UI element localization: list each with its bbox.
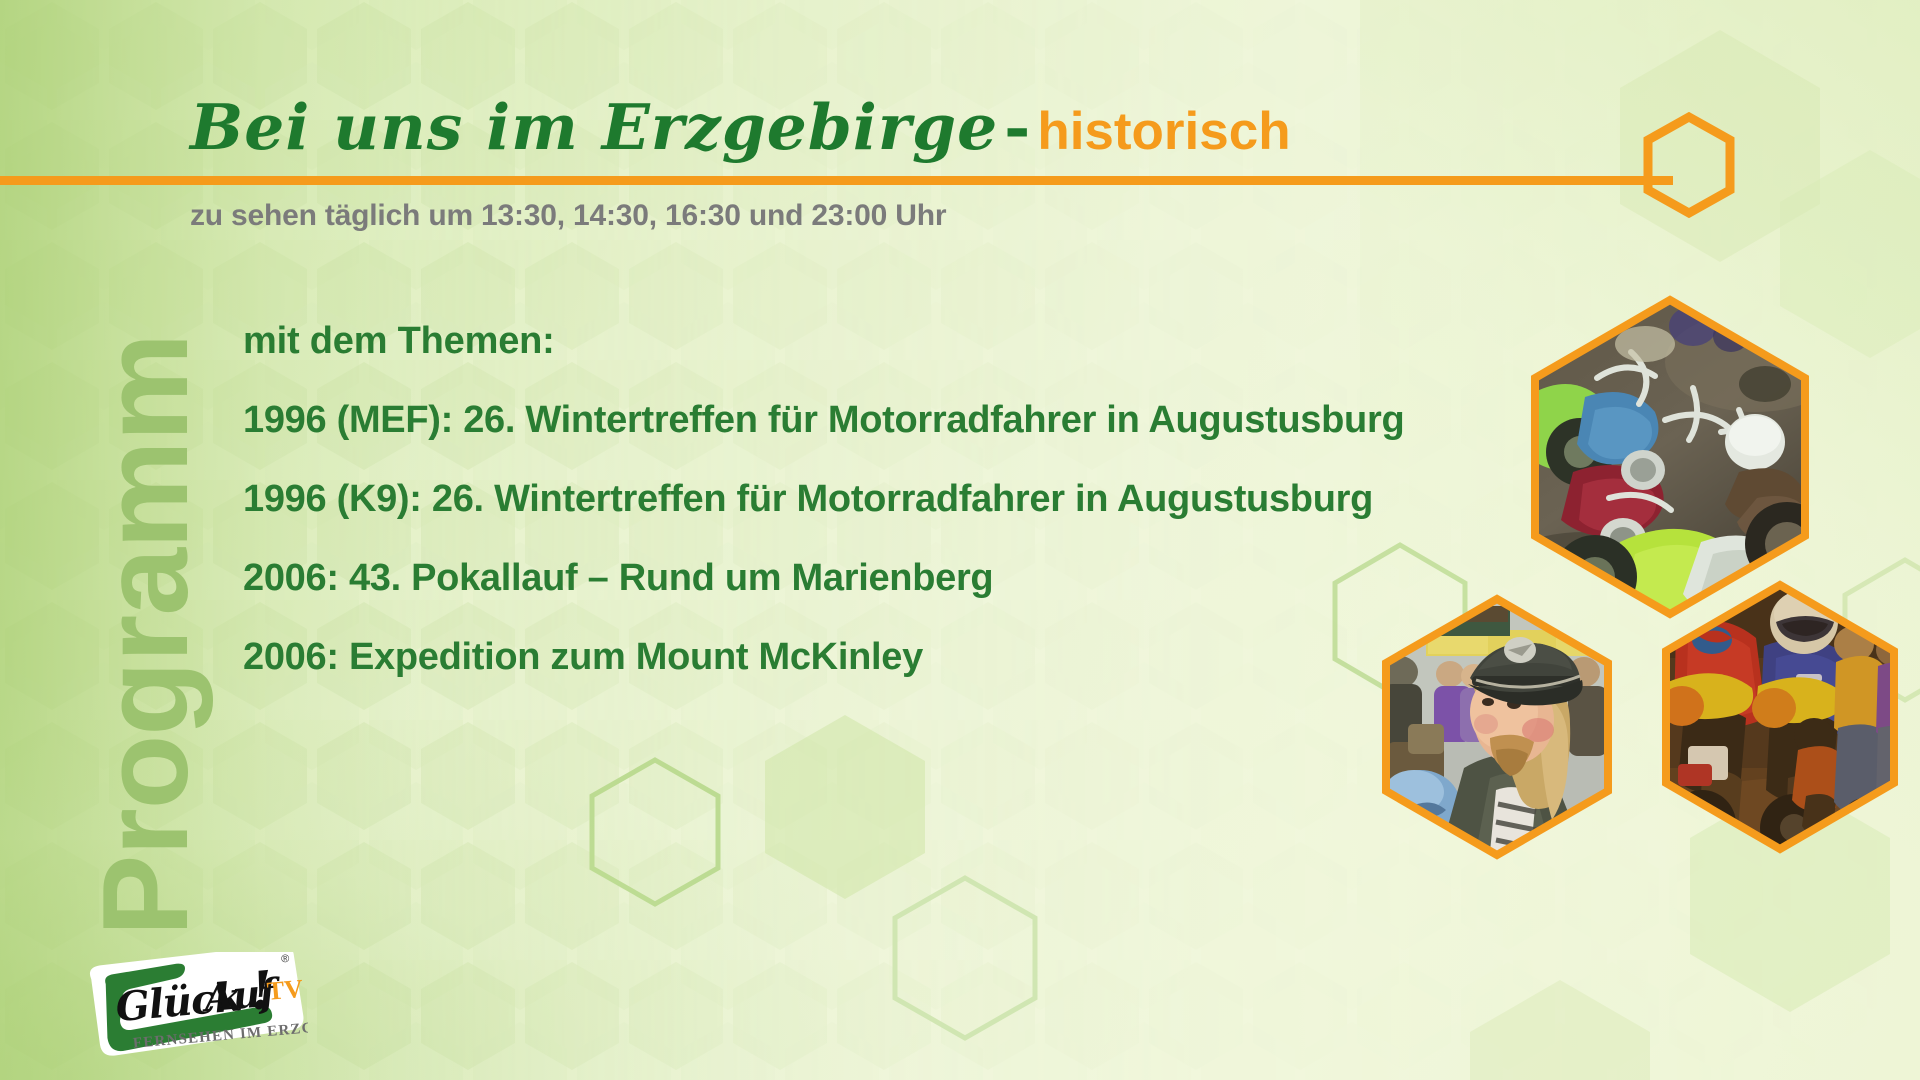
slide-canvas: Programm Bei uns im Erzgebirge-historisc… — [0, 0, 1920, 1080]
svg-text:TV: TV — [266, 974, 305, 1006]
svg-text:®: ® — [281, 953, 290, 966]
list-item: 1996 (MEF): 26. Wintertreffen für Motorr… — [243, 399, 1533, 442]
hex-photo-biker-portrait — [1378, 592, 1616, 862]
topics-lead-label: mit dem Themen: — [243, 320, 1533, 363]
hex-photo-motocross-riders — [1658, 578, 1902, 858]
list-item: 2006: Expedition zum Mount McKinley — [243, 636, 1533, 679]
glueckauf-tv-logo: Glück Auf ! TV ® FERNSEHEN IM ERZGEBIRGE — [88, 952, 308, 1060]
header-rule — [0, 176, 1673, 185]
page-title-main: Bei uns im Erzgebirge — [190, 90, 998, 164]
programm-vertical-label: Programm — [75, 285, 215, 985]
page-title: Bei uns im Erzgebirge-historisch — [190, 96, 1291, 159]
header-rule-hexagon-icon — [1643, 112, 1735, 218]
hex-photo-mopeds — [1525, 292, 1815, 622]
list-item: 1996 (K9): 26. Wintertreffen für Motorra… — [243, 478, 1533, 521]
page-title-accent: historisch — [1037, 102, 1290, 161]
broadcast-times-subtitle: zu sehen täglich um 13:30, 14:30, 16:30 … — [190, 199, 946, 233]
list-item: 2006: 43. Pokallauf – Rund um Marienberg — [243, 557, 1533, 600]
page-title-dash: - — [998, 90, 1037, 164]
topic-list-container: mit dem Themen: 1996 (MEF): 26. Wintertr… — [243, 320, 1533, 715]
